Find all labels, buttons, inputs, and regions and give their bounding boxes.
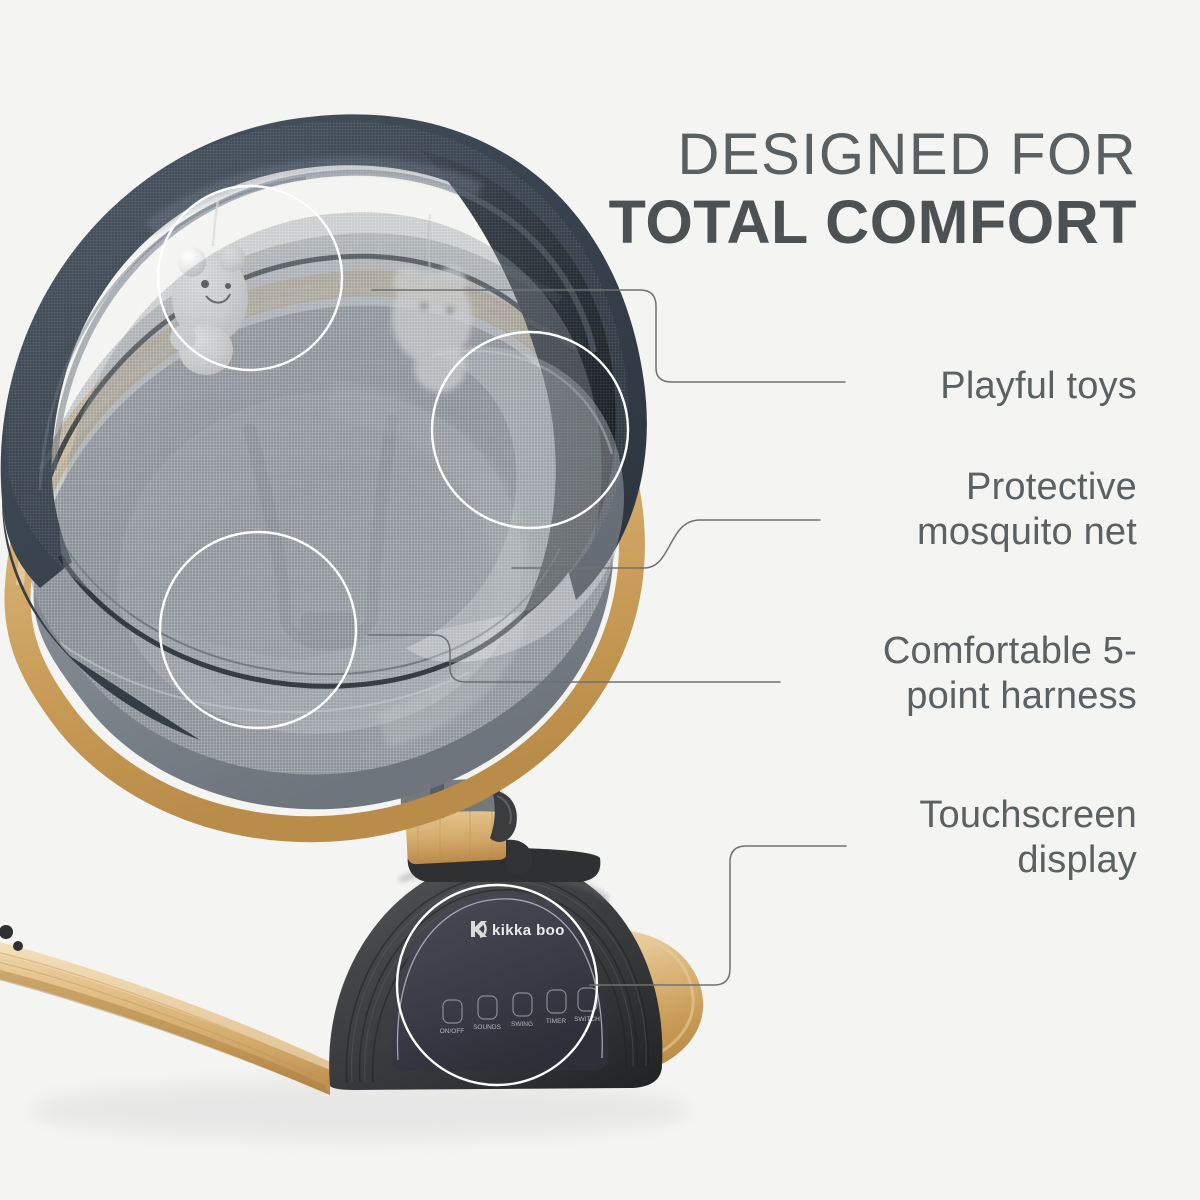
motor-base-unit: kikka boo ON/OFF SOUNDS SWING TIMER [329, 858, 703, 1090]
feature-label-five-point-harness: Comfortable 5- point harness [883, 629, 1137, 719]
page-title: DESIGNED FOR TOTAL COMFORT [609, 126, 1137, 253]
feature-label-playful-toys: Playful toys [940, 364, 1137, 409]
wooden-rocker-leg [0, 935, 330, 1095]
control-button-switch-label: SWITCH [574, 1016, 600, 1023]
feature-label-touchscreen: Touchscreen display [919, 793, 1137, 883]
control-button-sounds-label: SOUNDS [473, 1024, 501, 1031]
central-post [400, 779, 600, 882]
infographic-canvas: kikka boo ON/OFF SOUNDS SWING TIMER [0, 0, 1200, 1200]
control-button-swing-label: SWING [511, 1021, 533, 1028]
feature-label-mosquito-net: Protective mosquito net [917, 465, 1137, 555]
control-button-timer-label: TIMER [546, 1018, 567, 1025]
brand-logo-text: kikka boo [492, 922, 565, 939]
page-title-line2: TOTAL COMFORT [609, 192, 1137, 253]
page-title-line1: DESIGNED FOR [609, 126, 1137, 184]
control-button-onoff-label: ON/OFF [440, 1028, 465, 1035]
